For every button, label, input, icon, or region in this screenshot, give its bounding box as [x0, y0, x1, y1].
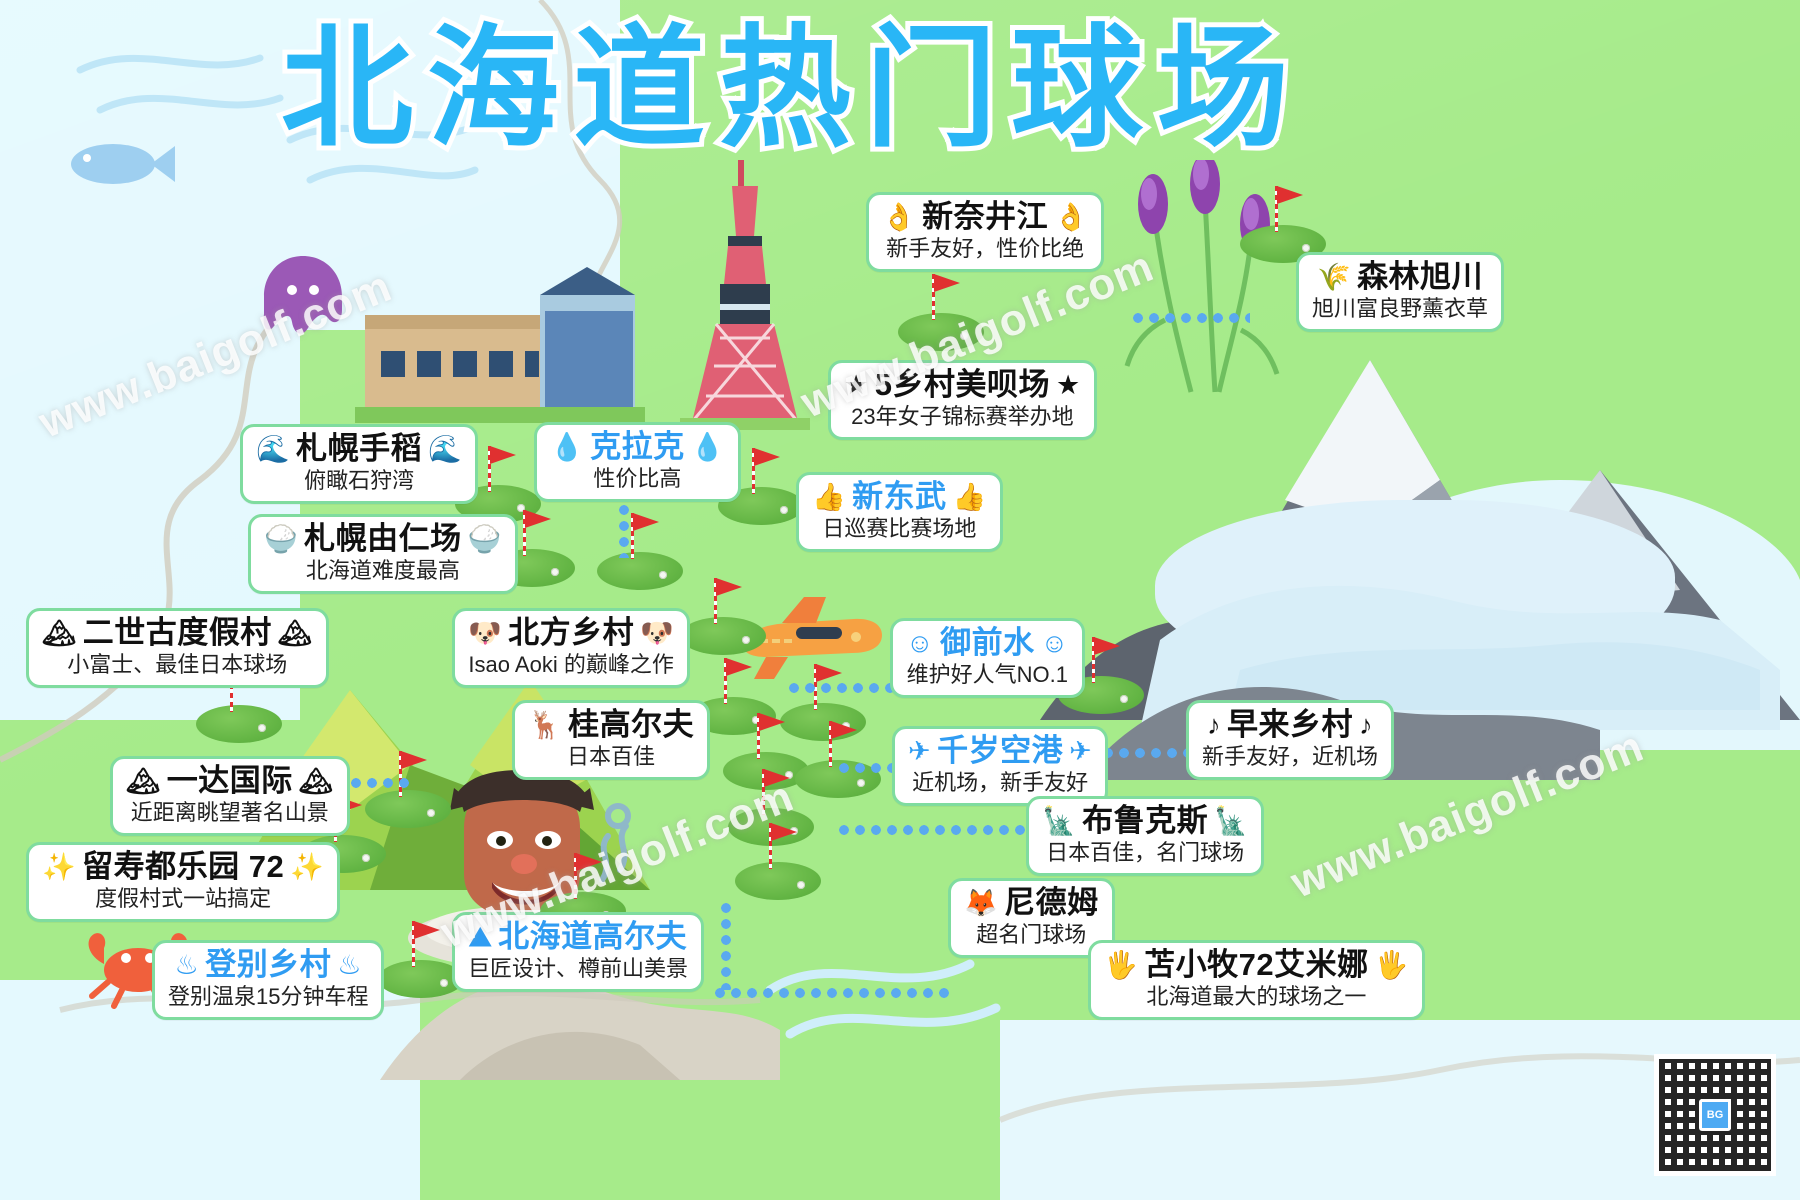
dog-face-icon: 🐶	[468, 620, 502, 647]
course-label-zaolaixiangcun[interactable]: ♪早来乡村♪ 新手友好，近机场	[1186, 700, 1394, 780]
hot-spring-icon: ♨	[337, 952, 362, 979]
connector-line	[712, 985, 952, 1001]
course-label-kuxiaomu[interactable]: 🖐苫小牧72艾米娜🖐 北海道最大的球场之一	[1088, 940, 1425, 1020]
thumbs-up-icon: 👍	[812, 484, 846, 511]
course-desc: 超名门球场	[964, 922, 1099, 948]
golf-flag	[762, 769, 765, 815]
golf-flag	[1092, 637, 1095, 683]
golf-flag	[574, 853, 577, 899]
course-label-xinnaijiang[interactable]: 👌新奈井江👌 新手友好，性价比绝	[866, 192, 1104, 272]
course-desc: 近机场，新手友好	[908, 770, 1092, 796]
dog-face-icon: 🐶	[640, 620, 674, 647]
mountain-icon: ⛰	[469, 924, 492, 951]
course-name: 札幌手稻	[296, 432, 422, 467]
course-desc: 维护好人气NO.1	[906, 662, 1069, 688]
statue-of-liberty-icon: 🗽	[1042, 808, 1076, 835]
sparkles-icon: ✨	[42, 854, 76, 881]
star-icon: ★	[1056, 372, 1081, 399]
course-name: 克拉克	[590, 430, 685, 465]
course-label-senlinxuchuan[interactable]: 🌾森林旭川 旭川富良野薰衣草	[1296, 252, 1504, 332]
course-name: 尼德姆	[1004, 886, 1099, 921]
airplane-glyph-icon: ✈	[1069, 738, 1092, 765]
page-title: 北海道热门球场	[232, 14, 1352, 164]
course-desc: 北海道难度最高	[264, 558, 502, 584]
ok-hand-icon: 👌	[882, 204, 916, 231]
qr-pattern: BG	[1659, 1059, 1771, 1171]
course-label-yuqianshui[interactable]: ☺御前水☺ 维护好人气NO.1	[890, 618, 1085, 698]
fish-icon	[55, 120, 175, 200]
course-label-dengbiexiangcun[interactable]: ♨登别乡村♨ 登别温泉15分钟车程	[152, 940, 384, 1020]
qr-badge: BG	[1699, 1099, 1731, 1131]
mountain-sun-icon: 🏔	[42, 620, 77, 647]
course-desc: 小富士、最佳日本球场	[42, 652, 313, 678]
course-name: 留寿都乐园 72	[82, 850, 284, 885]
golf-flag	[523, 510, 526, 556]
course-label-guigaoerfu[interactable]: 🦌桂高尔夫 日本百佳	[512, 700, 710, 780]
golf-flag	[932, 274, 935, 320]
course-label-liushoudu[interactable]: ✨留寿都乐园 72✨ 度假村式一站搞定	[26, 842, 340, 922]
rice-bowl-icon: 🍚	[264, 526, 298, 553]
mountain-sun-icon: 🏔	[278, 620, 313, 647]
course-name: 札幌由仁场	[304, 522, 462, 557]
course-name: 桂高尔夫	[568, 708, 694, 743]
golf-flag	[769, 823, 772, 869]
golf-flag	[757, 713, 760, 759]
golf-green	[680, 617, 766, 655]
fox-icon: 🦊	[964, 890, 998, 917]
statue-of-liberty-icon: 🗽	[1214, 808, 1248, 835]
course-name: 北海道高尔夫	[498, 920, 687, 955]
course-desc: 性价比高	[550, 466, 725, 492]
course-label-xindongwu[interactable]: 👍新东武👍 日巡赛比赛场地	[796, 472, 1003, 552]
red-brick-office	[355, 265, 645, 425]
course-name: 千岁空港	[937, 734, 1063, 769]
raised-hand-icon: 🖐	[1375, 952, 1409, 979]
lavender-sprig-icon: 🌾	[1317, 264, 1351, 291]
course-desc: 新手友好，近机场	[1202, 744, 1378, 770]
course-name: 登别乡村	[205, 948, 331, 983]
golf-flag	[724, 658, 727, 704]
wave-icon: 🌊	[256, 436, 290, 463]
course-label-bulukesi[interactable]: 🗽布鲁克斯🗽 日本百佳，名门球场	[1026, 796, 1264, 876]
course-name: 布鲁克斯	[1082, 804, 1208, 839]
course-desc: 日本百佳	[528, 744, 694, 770]
course-name: 北方乡村	[508, 616, 634, 651]
course-name: 一达国际	[167, 764, 293, 799]
deer-icon: 🦌	[528, 712, 562, 739]
course-label-5xiangcun[interactable]: ★5乡村美呗场★ 23年女子锦标赛举办地	[828, 360, 1097, 440]
course-label-zhahuangshoudao[interactable]: 🌊札幌手稻🌊 俯瞰石狩湾	[240, 424, 478, 504]
course-name: 新东武	[852, 480, 947, 515]
course-name: 早来乡村	[1227, 708, 1353, 743]
connector-line	[718, 900, 734, 990]
connector-line	[1130, 310, 1250, 326]
ok-hand-icon: 👌	[1054, 204, 1088, 231]
course-name: 二世古度假村	[83, 616, 272, 651]
course-desc: 日本百佳，名门球场	[1042, 840, 1248, 866]
qr-code[interactable]: BG	[1654, 1054, 1776, 1176]
connector-line	[786, 680, 896, 696]
golf-green	[898, 313, 984, 351]
golf-green	[196, 705, 282, 743]
course-label-beihaidaogaoerfu[interactable]: ⛰北海道高尔夫 巨匠设计、樽前山美景	[452, 912, 704, 992]
golf-flag	[714, 578, 717, 624]
rice-bowl-icon: 🍚	[468, 526, 502, 553]
course-desc: 巨匠设计、樽前山美景	[468, 956, 688, 982]
map-canvas: 👌新奈井江👌 新手友好，性价比绝 🌾森林旭川 旭川富良野薰衣草 ★5乡村美呗场★…	[0, 0, 1800, 1200]
golf-flag	[829, 721, 832, 767]
sapporo-tv-tower	[680, 160, 810, 430]
course-name: 苫小牧72艾米娜	[1144, 948, 1368, 983]
golf-flag	[488, 446, 491, 492]
course-desc: 登别温泉15分钟车程	[168, 984, 368, 1010]
course-desc: 俯瞰石狩湾	[256, 468, 462, 494]
course-label-beifangxiangcun[interactable]: 🐶北方乡村🐶 Isao Aoki 的巅峰之作	[452, 608, 690, 688]
snow-mountain-icon: 🏔	[299, 768, 334, 795]
course-name: 5乡村美呗场	[875, 368, 1050, 403]
airplane-glyph-icon: ✈	[908, 738, 931, 765]
course-label-yidaguoji[interactable]: 🏔一达国际🏔 近距离眺望著名山景	[110, 756, 350, 836]
course-desc: Isao Aoki 的巅峰之作	[468, 652, 674, 678]
course-label-qiansuikonggang[interactable]: ✈千岁空港✈ 近机场，新手友好	[892, 726, 1108, 806]
course-label-kelake[interactable]: 💧克拉克💧 性价比高	[534, 422, 741, 502]
course-desc: 旭川富良野薰衣草	[1312, 296, 1488, 322]
star-icon: ★	[844, 372, 869, 399]
course-name: 森林旭川	[1357, 260, 1483, 295]
thumbs-up-icon: 👍	[953, 484, 987, 511]
course-label-ershigu[interactable]: 🏔二世古度假村🏔 小富士、最佳日本球场	[26, 608, 329, 688]
raised-hand-icon: 🖐	[1104, 952, 1138, 979]
lavender-icon	[1105, 160, 1295, 400]
golf-flag	[412, 921, 415, 967]
golf-green	[735, 862, 821, 900]
golf-flag	[752, 448, 755, 494]
connector-line	[836, 822, 1026, 838]
course-desc: 23年女子锦标赛举办地	[844, 404, 1081, 430]
course-desc: 北海道最大的球场之一	[1104, 984, 1409, 1010]
smiley-face-icon: ☺	[906, 630, 934, 657]
golf-green	[365, 790, 451, 828]
snow-mountain-icon: 🏔	[126, 768, 161, 795]
connector-line	[1100, 745, 1200, 761]
course-desc: 日巡赛比赛场地	[812, 516, 987, 542]
course-desc: 近距离眺望著名山景	[126, 800, 334, 826]
smiley-face-icon: ☺	[1041, 630, 1069, 657]
course-label-zhahuangyouren[interactable]: 🍚札幌由仁场🍚 北海道难度最高	[248, 514, 518, 594]
golf-green	[597, 552, 683, 590]
course-desc: 度假村式一站搞定	[42, 886, 324, 912]
course-name: 御前水	[940, 626, 1035, 661]
hot-spring-icon: ♨	[175, 952, 200, 979]
course-name: 新奈井江	[922, 200, 1048, 235]
octopus-icon	[248, 248, 358, 348]
music-note-icon: ♪	[1207, 712, 1221, 739]
music-note-icon: ♪	[1359, 712, 1373, 739]
sparkles-icon: ✨	[290, 854, 324, 881]
water-drop-icon: 💧	[691, 434, 725, 461]
course-desc: 新手友好，性价比绝	[882, 236, 1088, 262]
water-drop-icon: 💧	[550, 434, 584, 461]
wave-icon: 🌊	[428, 436, 462, 463]
golf-flag	[1275, 186, 1278, 232]
